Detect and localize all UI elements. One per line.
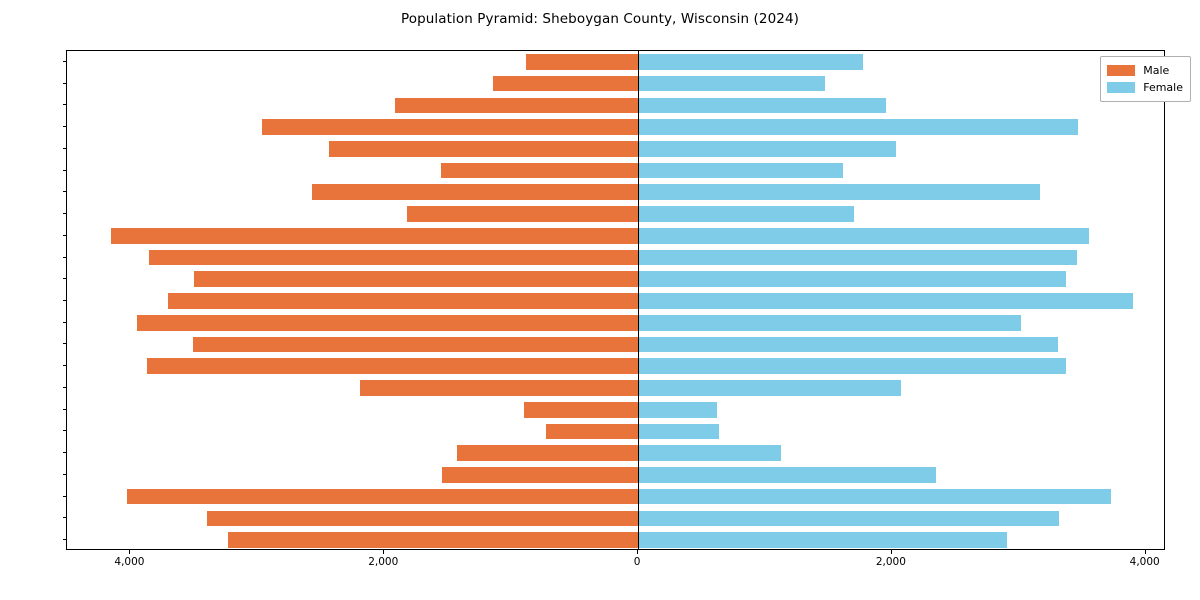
y-tick-mark: [63, 191, 67, 192]
bar-male-40-44: [168, 293, 638, 309]
bar-female-85-: [638, 54, 863, 70]
bar-female-45-49: [638, 271, 1066, 287]
bar-row: [67, 184, 1164, 200]
bar-row: [67, 358, 1164, 374]
x-tick-mark: [383, 550, 384, 554]
bar-row: [67, 271, 1164, 287]
bar-male-80-84: [493, 76, 638, 92]
bar-row: [67, 54, 1164, 70]
bar-female-50-54: [638, 250, 1076, 266]
bar-female-30-34: [638, 337, 1058, 353]
y-tick-mark: [63, 387, 67, 388]
bar-male-20: [546, 424, 638, 440]
legend-entry-female[interactable]: Female: [1107, 79, 1183, 96]
bar-female-5-9: [638, 511, 1059, 527]
y-tick-mark: [63, 474, 67, 475]
bar-row: [67, 228, 1164, 244]
y-tick-mark: [63, 61, 67, 62]
bar-male-35-39: [137, 315, 638, 331]
bar-row: [67, 402, 1164, 418]
bar-female-67-69: [638, 141, 896, 157]
bar-male-25-29: [147, 358, 638, 374]
bar-female-70-74: [638, 119, 1078, 135]
bar-male-21: [524, 402, 638, 418]
plot-area: [66, 50, 1165, 550]
bar-row: [67, 380, 1164, 396]
y-tick-mark: [63, 170, 67, 171]
legend-label-male: Male: [1143, 64, 1169, 77]
y-tick-mark: [63, 409, 67, 410]
x-tick-label: 2,000: [368, 556, 398, 568]
bar-row: [67, 250, 1164, 266]
bar-male-5-9: [207, 511, 638, 527]
y-tick-mark: [63, 539, 67, 540]
bar-male-75-79: [395, 98, 638, 114]
y-tick-mark: [63, 213, 67, 214]
bar-row: [67, 489, 1164, 505]
bar-male-62-64: [312, 184, 638, 200]
y-tick-mark: [63, 517, 67, 518]
bar-female-55-59: [638, 228, 1089, 244]
chart-legend: MaleFemale: [1100, 56, 1191, 102]
bar-male-15-17: [442, 467, 638, 483]
bar-male-50-54: [149, 250, 638, 266]
bar-row: [67, 467, 1164, 483]
bar-female-21: [638, 402, 717, 418]
legend-label-female: Female: [1143, 81, 1183, 94]
bar-female-22-24: [638, 380, 901, 396]
bar-row: [67, 337, 1164, 353]
bar-male-70-74: [262, 119, 638, 135]
bar-male-60-61: [407, 206, 638, 222]
bar-row: [67, 424, 1164, 440]
bar-row: [67, 163, 1164, 179]
bar-female-40-44: [638, 293, 1133, 309]
x-tick-label: 4,000: [1130, 556, 1160, 568]
y-tick-mark: [63, 365, 67, 366]
y-tick-mark: [63, 278, 67, 279]
y-tick-mark: [63, 343, 67, 344]
bar-female-25-29: [638, 358, 1066, 374]
x-tick-mark: [891, 550, 892, 554]
bar-female-20: [638, 424, 719, 440]
bar-female-10-14: [638, 489, 1111, 505]
chart-title: Population Pyramid: Sheboygan County, Wi…: [0, 11, 1200, 27]
bar-female-65-66: [638, 163, 843, 179]
bar-female-62-64: [638, 184, 1040, 200]
y-tick-mark: [63, 430, 67, 431]
bar-male-30-34: [193, 337, 638, 353]
legend-swatch-female: [1107, 82, 1135, 93]
legend-swatch-male: [1107, 65, 1135, 76]
y-tick-mark: [63, 235, 67, 236]
bar-female-18-19: [638, 445, 781, 461]
bar-male-85-: [526, 54, 638, 70]
legend-entry-male[interactable]: Male: [1107, 62, 1183, 79]
bar-row: [67, 293, 1164, 309]
bar-female-60-61: [638, 206, 854, 222]
bar-row: [67, 315, 1164, 331]
y-tick-mark: [63, 104, 67, 105]
y-tick-mark: [63, 257, 67, 258]
y-tick-mark: [63, 322, 67, 323]
y-tick-mark: [63, 126, 67, 127]
bar-female-35-39: [638, 315, 1021, 331]
bar-row: [67, 532, 1164, 548]
y-tick-mark: [63, 452, 67, 453]
bar-female-75-79: [638, 98, 885, 114]
bar-male-65-66: [441, 163, 638, 179]
bar-row: [67, 98, 1164, 114]
bar-male-67-69: [329, 141, 638, 157]
bar-female-15-17: [638, 467, 936, 483]
bar-row: [67, 511, 1164, 527]
bar-row: [67, 76, 1164, 92]
bar-row: [67, 141, 1164, 157]
y-tick-mark: [63, 300, 67, 301]
plot-bars-container: [67, 51, 1164, 549]
bar-male-18-19: [457, 445, 638, 461]
bar-male-55-59: [111, 228, 638, 244]
zero-axis-line: [638, 51, 639, 549]
bar-male-under-5: [228, 532, 639, 548]
x-tick-label: 4,000: [114, 556, 144, 568]
x-tick-label: 0: [634, 556, 641, 568]
bar-female-80-84: [638, 76, 825, 92]
bar-row: [67, 206, 1164, 222]
x-tick-mark: [637, 550, 638, 554]
bar-row: [67, 119, 1164, 135]
bar-row: [67, 445, 1164, 461]
bar-male-45-49: [194, 271, 638, 287]
x-tick-mark: [1145, 550, 1146, 554]
y-tick-mark: [63, 496, 67, 497]
y-tick-mark: [63, 83, 67, 84]
bar-female-under-5: [638, 532, 1007, 548]
y-tick-mark: [63, 148, 67, 149]
bar-male-10-14: [127, 489, 638, 505]
bar-male-22-24: [360, 380, 638, 396]
population-pyramid-figure: Population Pyramid: Sheboygan County, Wi…: [0, 0, 1200, 600]
x-tick-label: 2,000: [876, 556, 906, 568]
x-tick-mark: [129, 550, 130, 554]
